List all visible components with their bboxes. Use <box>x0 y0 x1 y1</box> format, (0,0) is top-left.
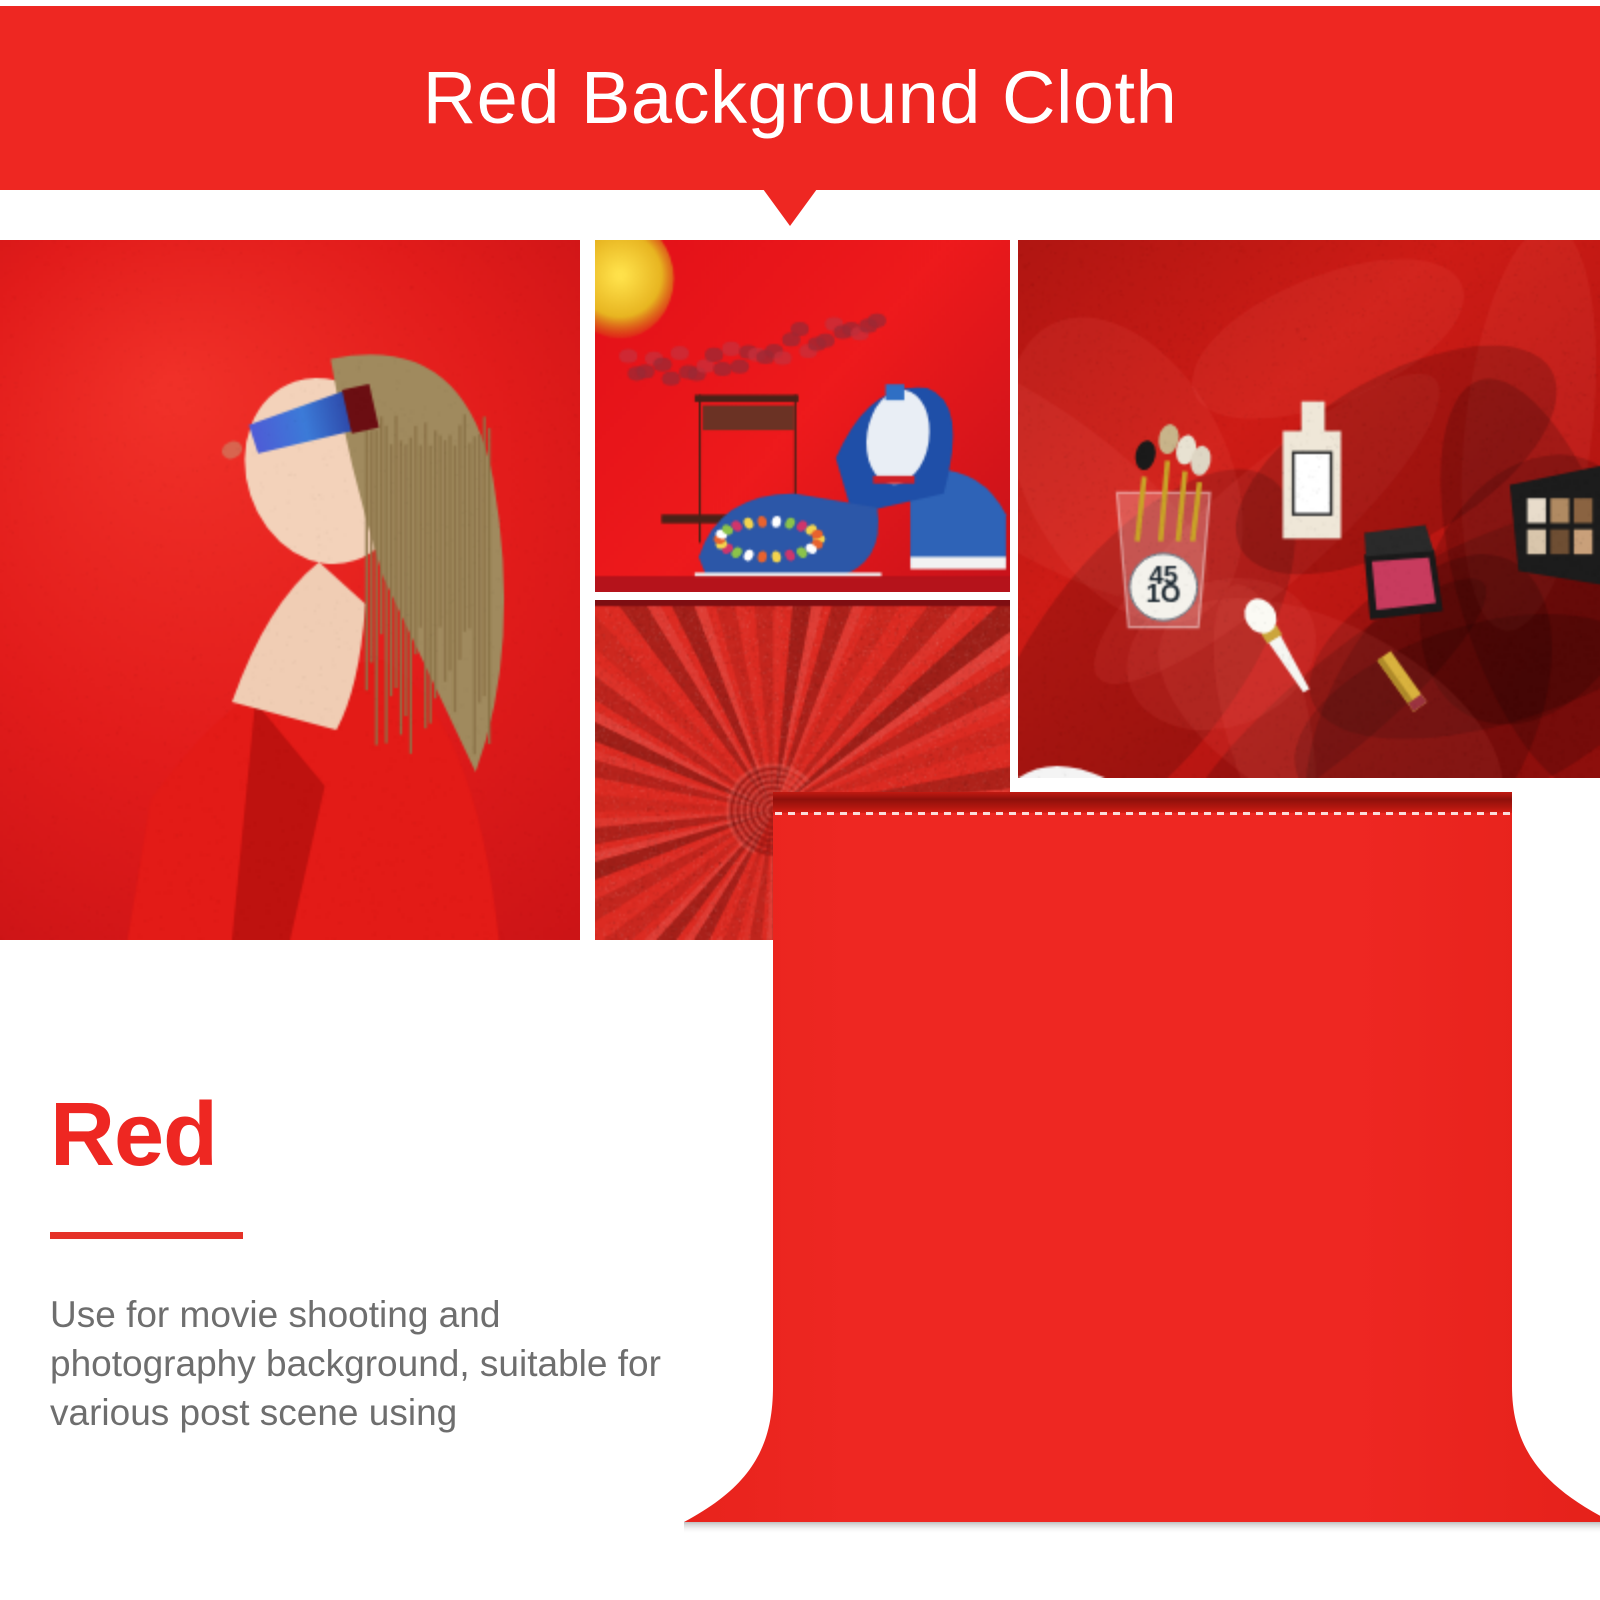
header-banner: Red Background Cloth <box>0 6 1600 190</box>
page-title: Red Background Cloth <box>423 61 1178 135</box>
product-info-block: Red Use for movie shooting and photograp… <box>50 1090 710 1437</box>
roll-floor-shadow <box>684 1522 1600 1534</box>
photo-embroidered-shoes <box>595 240 1010 592</box>
product-description: Use for movie shooting and photography b… <box>50 1291 690 1437</box>
product-backdrop-roll <box>660 786 1600 1536</box>
roll-cloth-body <box>684 792 1600 1522</box>
color-name-heading: Red <box>50 1090 710 1180</box>
photo-model-in-red-blazer <box>0 240 580 940</box>
banner-notch-triangle <box>763 189 817 226</box>
title-underline-rule <box>50 1232 243 1239</box>
roll-top-band <box>773 792 1512 813</box>
photo-cosmetics-flatlay <box>1018 240 1600 778</box>
